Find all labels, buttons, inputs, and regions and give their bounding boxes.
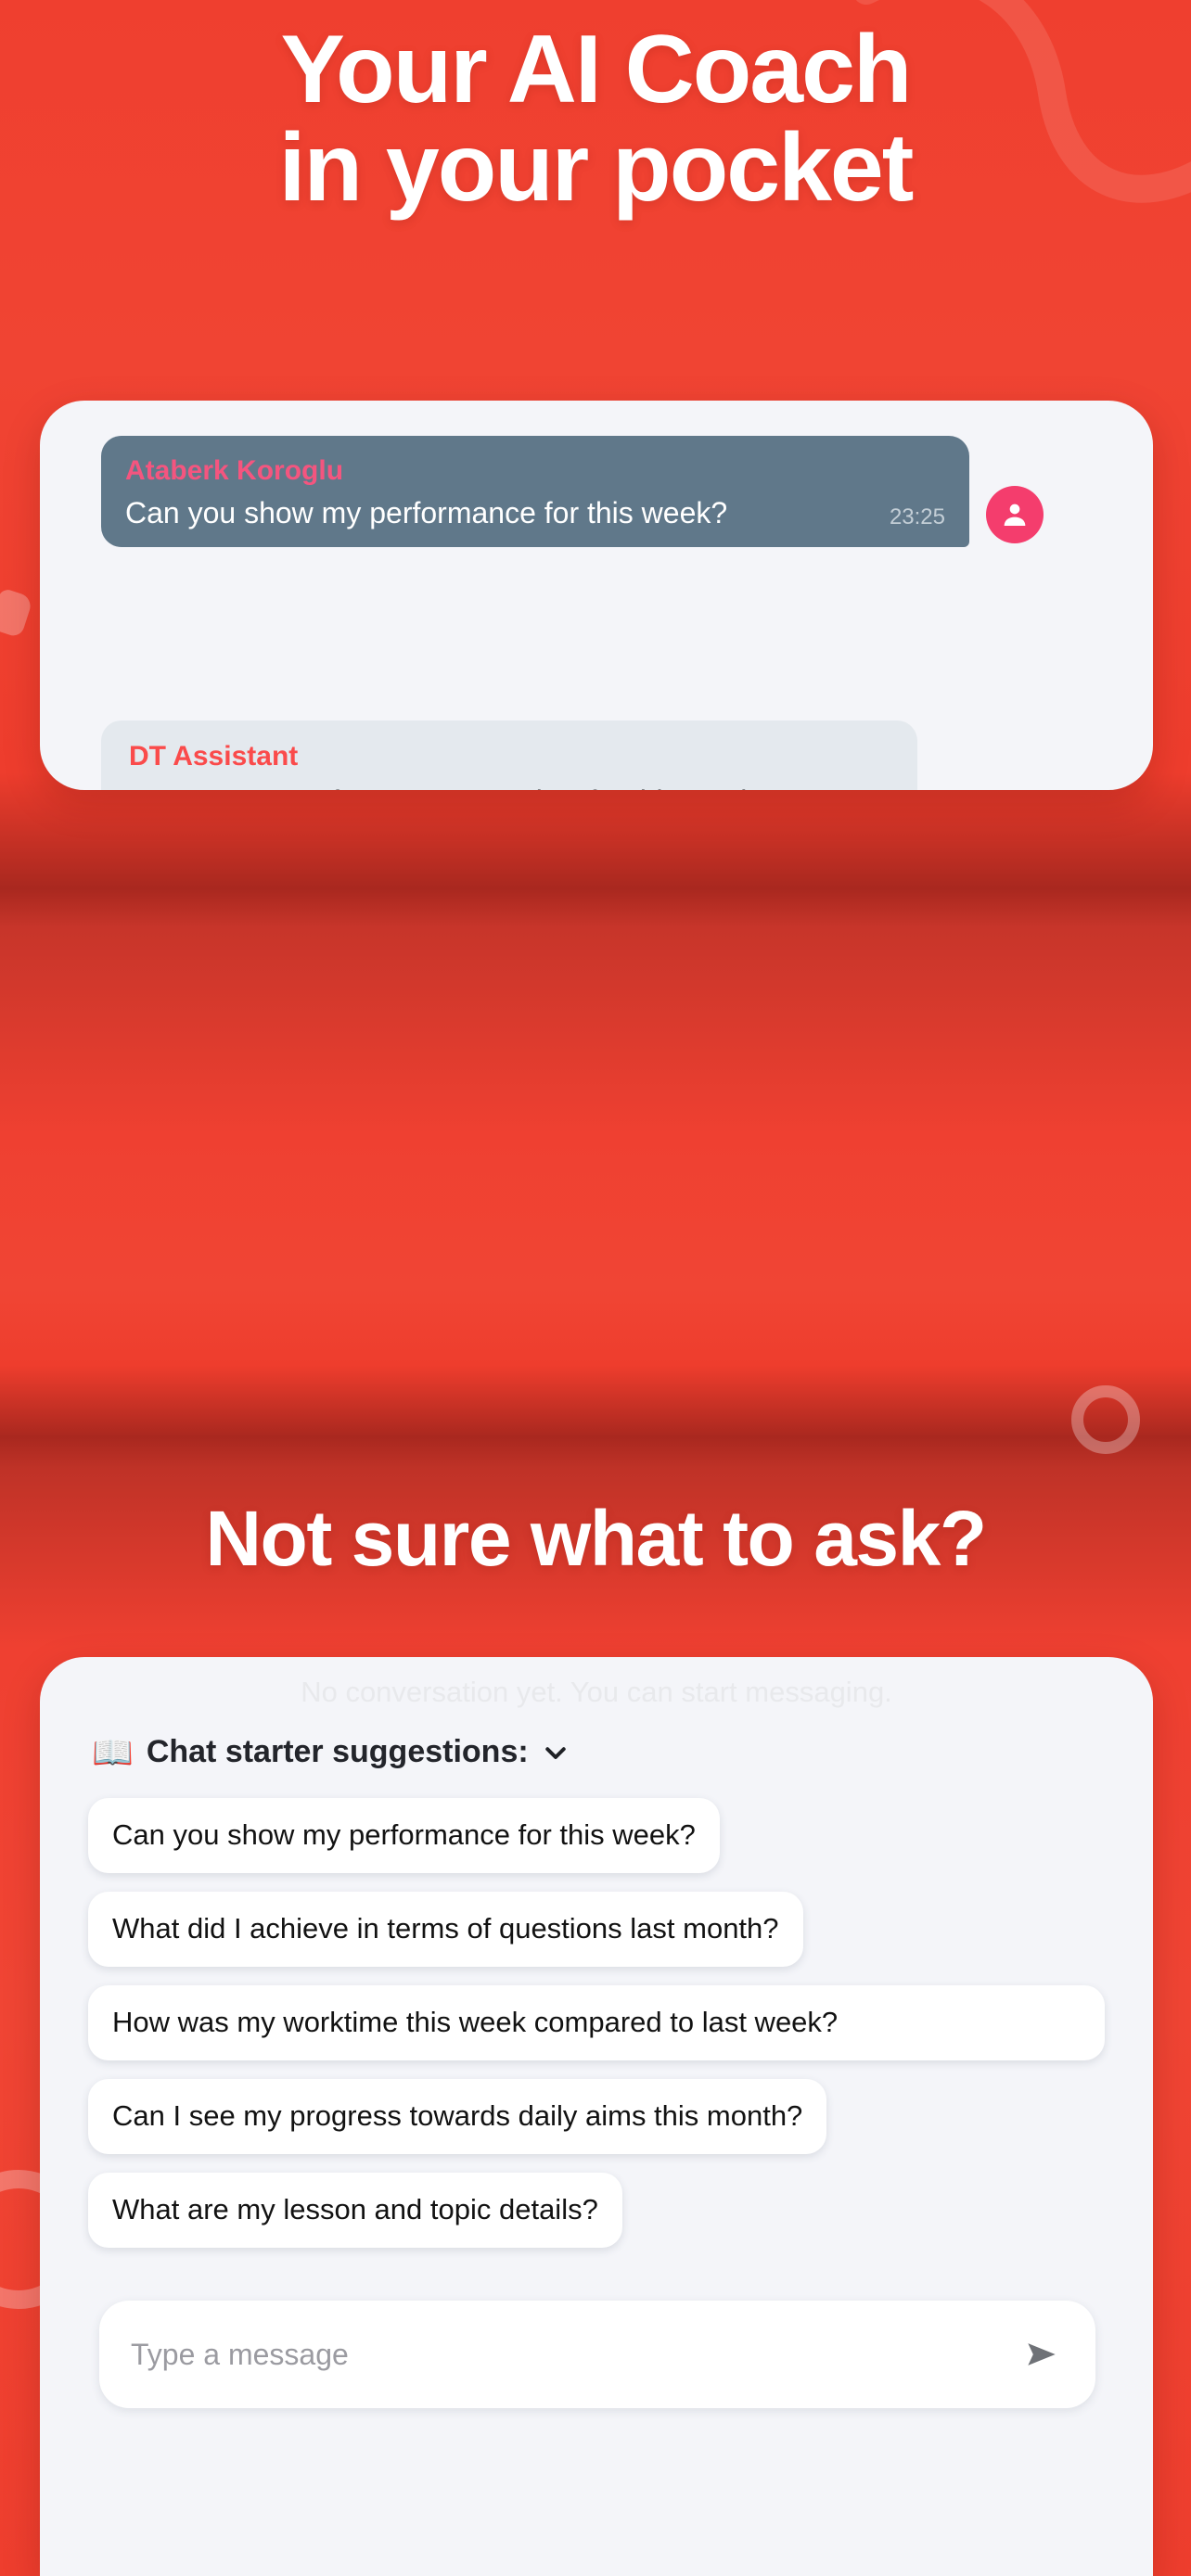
assistant-message-bubble[interactable]: DT Assistant Here’s your performance ove… [101,721,917,790]
suggestion-chip[interactable]: How was my worktime this week compared t… [88,1985,1105,2060]
promo-headline-top: Your AI Coach in your pocket [0,20,1191,217]
message-composer [99,2301,1095,2408]
message-input[interactable] [131,2338,1019,2372]
send-icon [1021,2334,1062,2375]
chat-preview-card: Ataberk Koroglu Can you show my performa… [40,401,1153,790]
suggestion-chip[interactable]: What did I achieve in terms of questions… [88,1892,803,1967]
user-message-bubble[interactable]: Ataberk Koroglu Can you show my performa… [101,436,969,547]
book-icon: 📖 [92,1736,134,1769]
user-message-row: Ataberk Koroglu Can you show my performa… [101,436,1131,547]
send-button[interactable] [1019,2334,1064,2375]
chat-starter-label: Chat starter suggestions: [147,1734,529,1770]
chevron-down-icon[interactable] [542,1739,570,1766]
user-message-text: Can you show my performance for this wee… [125,493,945,532]
person-icon [1000,500,1030,529]
suggestion-chip[interactable]: Can you show my performance for this wee… [88,1798,720,1873]
avatar [986,486,1044,543]
assistant-message-sender: DT Assistant [129,741,890,772]
suggestion-list: Can you show my performance for this wee… [88,1798,1105,2248]
suggestion-chip[interactable]: Can I see my progress towards daily aims… [88,2079,826,2154]
suggestion-chip[interactable]: What are my lesson and topic details? [88,2173,622,2248]
chat-starter-header[interactable]: 📖 Chat starter suggestions: [92,1734,570,1770]
chat-starter-card: No conversation yet. You can start messa… [40,1657,1153,2576]
user-message-timestamp: 23:25 [890,504,945,530]
empty-conversation-note: No conversation yet. You can start messa… [40,1676,1153,1709]
promo-headline-middle: Not sure what to ask? [0,1499,1191,1579]
assistant-message-intro: Here’s your performance overview for thi… [129,782,890,790]
user-message-sender: Ataberk Koroglu [125,454,945,488]
